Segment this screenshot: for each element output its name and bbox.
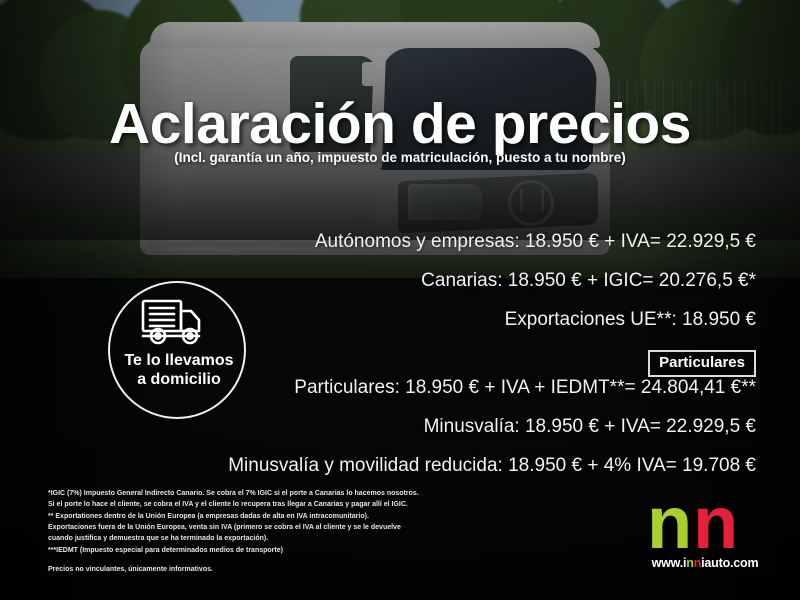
- logo-url-n-green: n: [686, 556, 693, 570]
- delivery-badge: Te lo llevamos a domicilio: [108, 281, 246, 419]
- footnote-line: ***IEDMT (Impuesto especial para determi…: [48, 545, 468, 556]
- brand-logo[interactable]: n n www.inniauto.com: [645, 492, 765, 582]
- logo-letter-n-red: n: [693, 492, 734, 554]
- poster-canvas: Aclaración de precios (Incl. garantía un…: [0, 0, 800, 600]
- page-title: Aclaración de precios: [0, 96, 800, 153]
- section-tag-wrapper: Particulares: [220, 350, 756, 377]
- logo-url-suffix: iauto.com: [701, 556, 758, 570]
- price-line-minusvalia: Minusvalía: 18.950 € + IVA= 22.929,5 €: [40, 417, 756, 436]
- delivery-truck-icon: [139, 298, 215, 346]
- price-line-minusvalia-movilidad: Minusvalía y movilidad reducida: 18.950 …: [40, 456, 756, 475]
- footnote-line: *IGIC (7%) Impuesto General Indirecto Ca…: [48, 488, 468, 499]
- footnote-line: cuando justifica y demuestra que se ha t…: [48, 533, 468, 544]
- logo-letter-n-green: n: [647, 492, 688, 554]
- delivery-badge-line2: a domicilio: [110, 371, 248, 390]
- page-subtitle: (Incl. garantía un año, impuesto de matr…: [0, 150, 800, 165]
- footnote-line: Exportaciones fuera de la Unión Europea,…: [48, 522, 468, 533]
- logo-website-url[interactable]: www.inniauto.com: [645, 556, 765, 570]
- section-tag-particulares: Particulares: [648, 350, 756, 377]
- logo-url-prefix: www.i: [652, 556, 687, 570]
- delivery-badge-line1: Te lo llevamos: [110, 352, 248, 371]
- footnote-line: ** Exportationes dentro de la Unión Euro…: [48, 511, 468, 522]
- footnote-line: Si el porte lo hace el cliente, se cobra…: [48, 499, 468, 510]
- price-group-business: Autónomos y empresas: 18.950 € + IVA= 22…: [220, 232, 756, 349]
- footnotes-block: *IGIC (7%) Impuesto General Indirecto Ca…: [48, 488, 468, 575]
- price-line-canarias: Canarias: 18.950 € + IGIC= 20.276,5 €*: [220, 271, 756, 290]
- delivery-badge-text: Te lo llevamos a domicilio: [110, 352, 248, 390]
- price-line-exportaciones-ue: Exportaciones UE**: 18.950 €: [220, 310, 756, 329]
- footnote-disclaimer: Precios no vinculantes, únicamente infor…: [48, 564, 468, 575]
- price-line-autonomos: Autónomos y empresas: 18.950 € + IVA= 22…: [220, 232, 756, 251]
- logo-marks: n n: [645, 492, 765, 554]
